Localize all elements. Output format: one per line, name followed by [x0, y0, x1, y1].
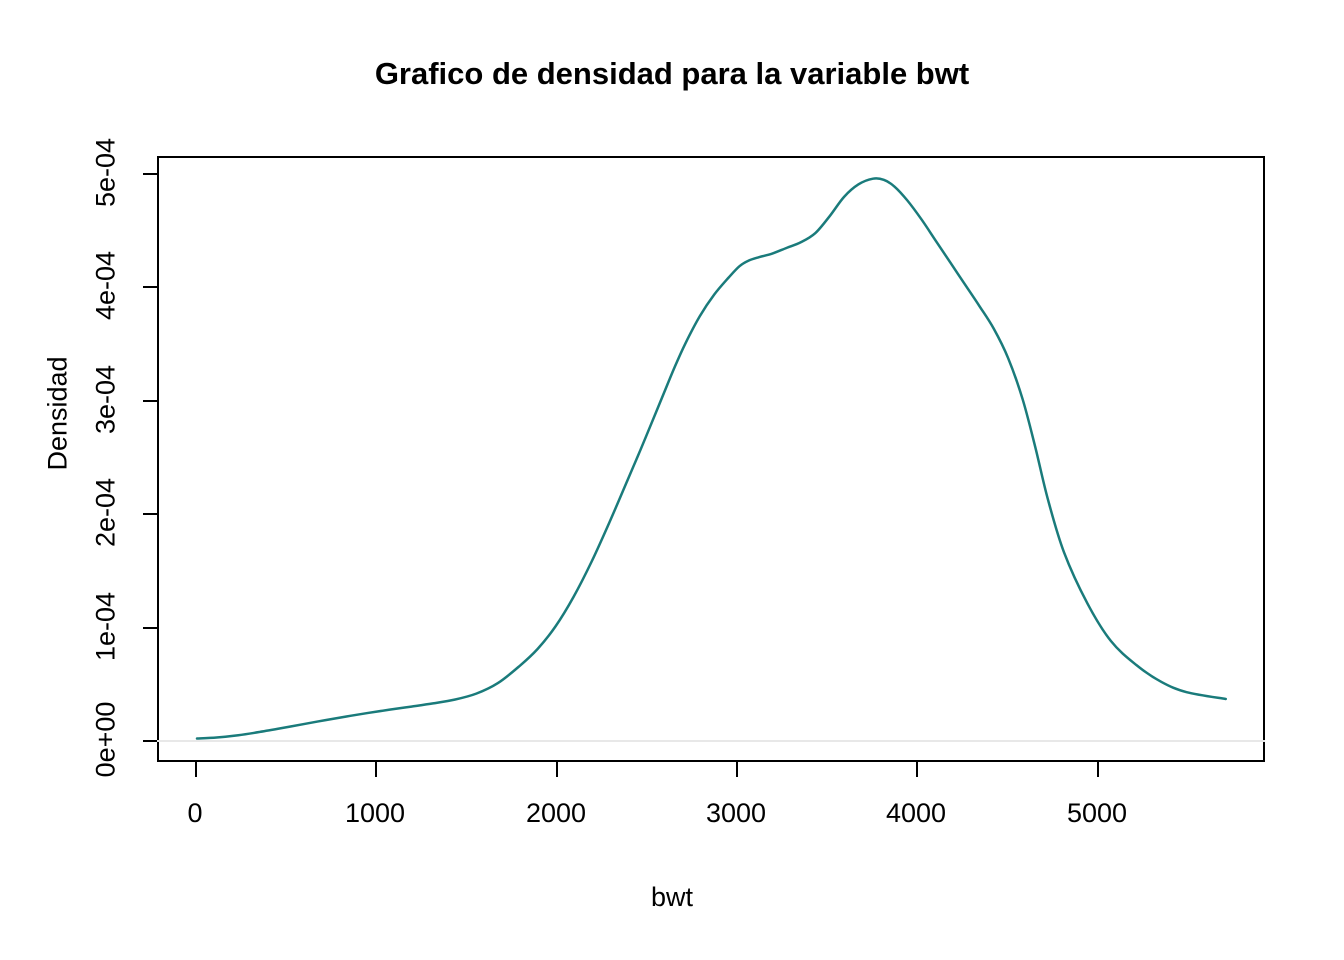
xtick-label-1: 1000 — [315, 800, 435, 827]
ytick-mark-5 — [143, 173, 157, 175]
xtick-label-3: 3000 — [676, 800, 796, 827]
ytick-label-2: 2e-04 — [93, 453, 120, 573]
y-axis-title: Densidad — [45, 314, 72, 514]
xtick-label-4: 4000 — [856, 800, 976, 827]
ytick-mark-1 — [143, 627, 157, 629]
xtick-mark-5 — [1097, 762, 1099, 777]
ytick-mark-0 — [143, 740, 157, 742]
ytick-mark-4 — [143, 286, 157, 288]
xtick-mark-3 — [736, 762, 738, 777]
xtick-mark-2 — [556, 762, 558, 777]
xtick-label-5: 5000 — [1037, 800, 1157, 827]
ytick-label-0: 0e+00 — [93, 680, 120, 800]
xtick-label-2: 2000 — [496, 800, 616, 827]
ytick-label-1: 1e-04 — [93, 567, 120, 687]
ytick-mark-3 — [143, 400, 157, 402]
xtick-label-0: 0 — [135, 800, 255, 827]
xtick-mark-1 — [375, 762, 377, 777]
density-curve-svg — [157, 156, 1265, 762]
ytick-mark-2 — [143, 513, 157, 515]
xtick-mark-0 — [195, 762, 197, 777]
xtick-mark-4 — [916, 762, 918, 777]
ytick-label-5: 5e-04 — [93, 113, 120, 233]
ytick-label-4: 4e-04 — [93, 226, 120, 346]
density-plot-figure: Grafico de densidad para la variable bwt… — [0, 0, 1344, 960]
ytick-label-3: 3e-04 — [93, 340, 120, 460]
x-axis-title: bwt — [0, 884, 1344, 911]
chart-title: Grafico de densidad para la variable bwt — [0, 56, 1344, 92]
density-curve-path — [197, 178, 1226, 738]
